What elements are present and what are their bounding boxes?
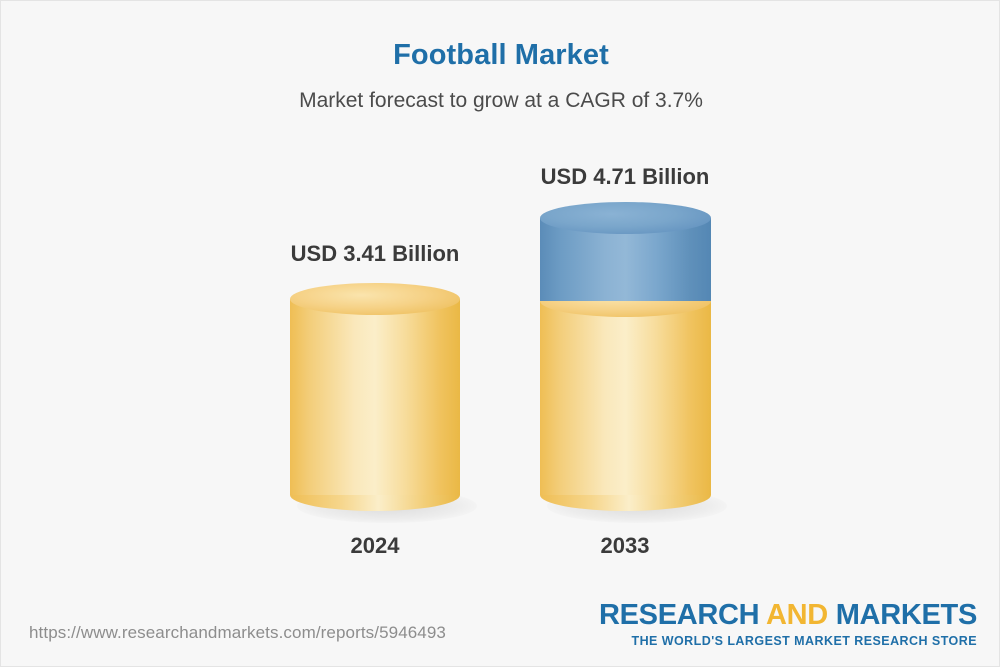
logo-text-and: AND: [766, 599, 836, 631]
report-url[interactable]: https://www.researchandmarkets.com/repor…: [29, 623, 446, 643]
bar-value-label-2033: USD 4.71 Billion: [475, 164, 775, 190]
bar-value-label-2024: USD 3.41 Billion: [225, 241, 525, 267]
cylinder-top-2024: [290, 283, 460, 315]
research-and-markets-logo[interactable]: RESEARCH AND MARKETS THE WORLD'S LARGEST…: [599, 601, 977, 648]
logo-text-research: RESEARCH: [599, 599, 766, 631]
chart-plot-area: USD 3.41 Billion 2024 USD 4.71 Billion 2…: [1, 1, 1000, 601]
chart-card: Football Market Market forecast to grow …: [0, 0, 1000, 667]
cylinder-top-2033: [540, 202, 711, 234]
logo-tagline: THE WORLD'S LARGEST MARKET RESEARCH STOR…: [599, 635, 977, 648]
logo-wordmark: RESEARCH AND MARKETS: [599, 601, 977, 630]
bar-cylinder-2033: [540, 202, 711, 511]
category-label-2033: 2033: [475, 533, 775, 559]
bar-cylinder-2024: [290, 283, 460, 511]
cylinder-body-2024: [290, 299, 460, 495]
cylinder-body-yellow-2033: [540, 301, 711, 495]
logo-text-markets: MARKETS: [836, 599, 977, 631]
